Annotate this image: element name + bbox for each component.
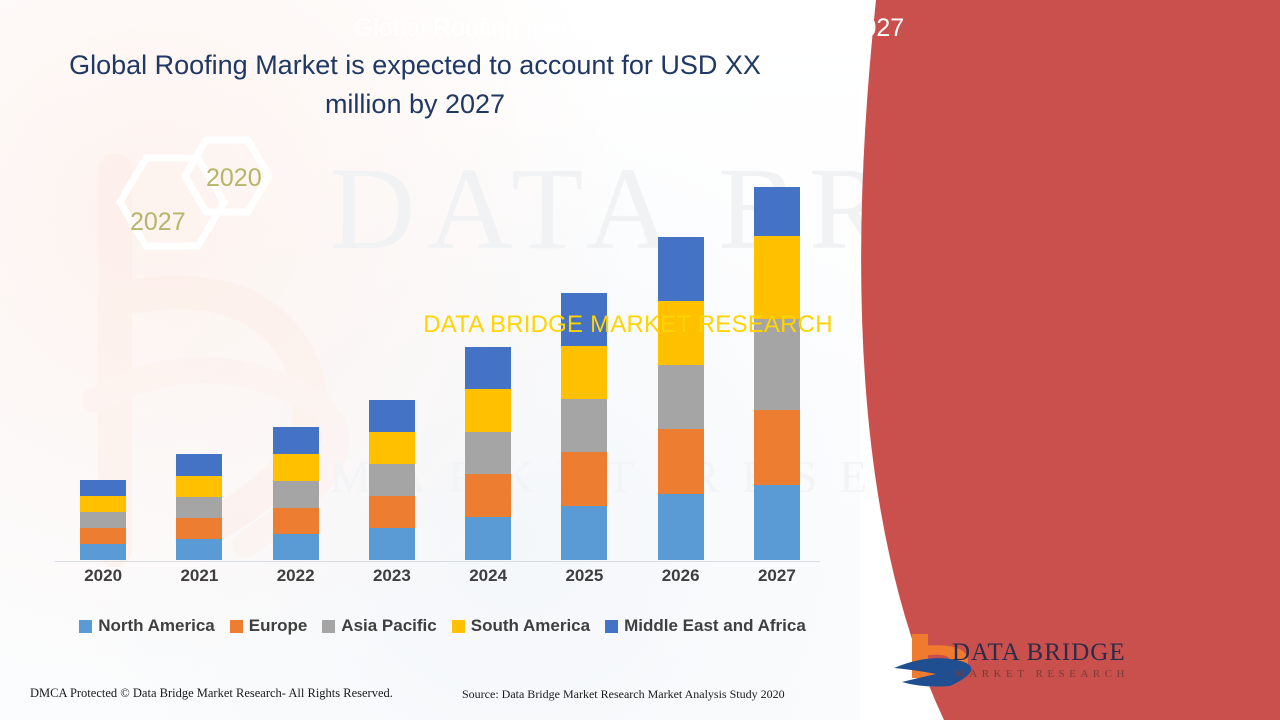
bar-segment (561, 346, 607, 399)
x-axis-label: 2025 (561, 566, 607, 586)
bar-2022 (273, 427, 319, 560)
bar-segment (465, 347, 511, 389)
bar-segment (369, 400, 415, 432)
legend-label: Middle East and Africa (624, 616, 806, 636)
bar-segment (176, 497, 222, 518)
bar-segment (273, 427, 319, 454)
x-axis-label: 2020 (80, 566, 126, 586)
x-axis-label: 2027 (754, 566, 800, 586)
bar-segment (80, 496, 126, 512)
bar-segment (465, 474, 511, 517)
legend-item[interactable]: South America (452, 616, 590, 636)
bar-segment (754, 410, 800, 485)
x-axis-label: 2024 (465, 566, 511, 586)
bar-segment (658, 429, 704, 494)
x-axis-line (55, 561, 820, 562)
logo-subtitle: MARKET RESEARCH (955, 668, 1129, 680)
bar-segment (369, 496, 415, 528)
bar-2021 (176, 454, 222, 560)
legend-item[interactable]: Middle East and Africa (605, 616, 806, 636)
bar-segment (273, 481, 319, 508)
x-axis-label: 2022 (273, 566, 319, 586)
bar-segment (176, 476, 222, 497)
source-note: Source: Data Bridge Market Research Mark… (462, 687, 785, 702)
hexagon-back-label: 2020 (206, 164, 262, 193)
bar-segment (80, 544, 126, 560)
bar-segment (176, 454, 222, 476)
x-axis-labels: 20202021202220232024202520262027 (55, 566, 825, 586)
brand-name: DATA BRIDGE MARKET RESEARCH (0, 308, 1256, 343)
bar-segment (465, 517, 511, 560)
x-axis-label: 2023 (369, 566, 415, 586)
legend-swatch (605, 620, 618, 633)
legend-label: North America (98, 616, 215, 636)
bar-2023 (369, 400, 415, 560)
legend-swatch (79, 620, 92, 633)
bar-segment (465, 432, 511, 474)
page-title: Global Roofing Market is expected to acc… (60, 46, 770, 124)
bar-segment (176, 539, 222, 560)
bar-segment (658, 365, 704, 429)
bar-segment (80, 480, 126, 496)
legend-swatch (452, 620, 465, 633)
legend-swatch (230, 620, 243, 633)
x-axis-label: 2021 (176, 566, 222, 586)
bar-2020 (80, 480, 126, 560)
legend-label: South America (471, 616, 590, 636)
bar-2024 (465, 347, 511, 560)
bar-segment (369, 528, 415, 560)
bar-segment (80, 512, 126, 528)
legend-swatch (322, 620, 335, 633)
legend-item[interactable]: Asia Pacific (322, 616, 436, 636)
bar-segment (176, 518, 222, 539)
bar-segment (273, 508, 319, 534)
legend-label: Europe (249, 616, 308, 636)
x-axis-label: 2026 (658, 566, 704, 586)
bar-2026 (658, 237, 704, 560)
bar-segment (658, 494, 704, 560)
hexagon-badges: 2020 2027 (0, 128, 1260, 278)
logo-title: DATA BRIDGE (952, 639, 1126, 667)
infographic-slide: DATA BRIDGE MARKET RESEARCH Global Roofi… (0, 0, 1280, 720)
red-side-panel (840, 0, 1280, 720)
bar-segment (754, 485, 800, 560)
bar-segment (273, 454, 319, 481)
legend-item[interactable]: North America (79, 616, 215, 636)
legend-label: Asia Pacific (341, 616, 436, 636)
hexagon-front-label: 2027 (130, 208, 186, 237)
bar-segment (369, 432, 415, 464)
legend-item[interactable]: Europe (230, 616, 308, 636)
chart-legend: North AmericaEuropeAsia PacificSouth Ame… (55, 616, 830, 636)
bar-segment (80, 528, 126, 544)
bar-segment (273, 534, 319, 560)
bar-segment (561, 452, 607, 506)
copyright-notice: DMCA Protected © Data Bridge Market Rese… (30, 686, 393, 701)
bar-segment (561, 399, 607, 452)
panel-title: Global Roofing Market, By Regions, 2020 … (0, 12, 1258, 45)
bar-segment (369, 464, 415, 496)
bar-segment (465, 389, 511, 432)
bar-segment (561, 506, 607, 560)
hexagon-outline-icon (0, 128, 440, 278)
